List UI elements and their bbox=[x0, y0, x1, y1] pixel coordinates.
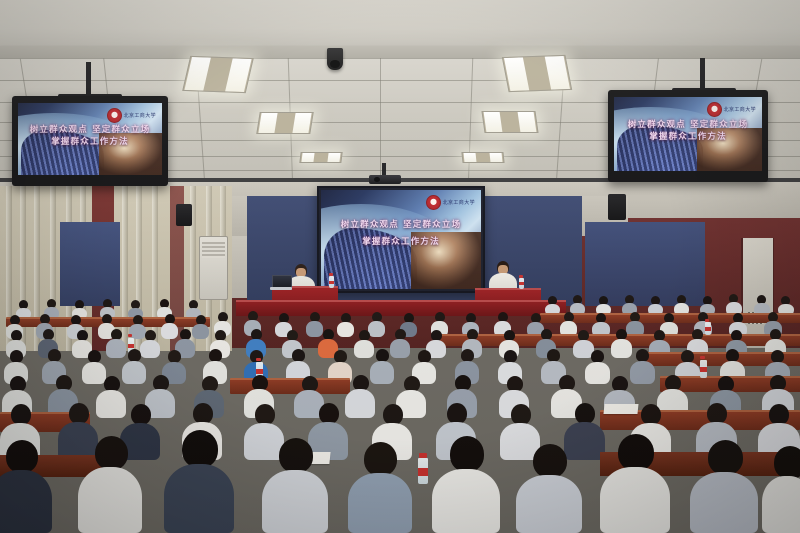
left-monitor-screen: 北京工商大学 树立群众观点 坚定群众立场 掌握群众工作方法 bbox=[18, 103, 162, 175]
university-name: 北京工商大学 bbox=[724, 106, 756, 113]
right-wall-monitor: 北京工商大学 树立群众观点 坚定群众立场 掌握群众工作方法 bbox=[608, 90, 768, 182]
university-seal-icon bbox=[707, 102, 722, 117]
lecture-hall-photo: 北京工商大学 树立群众观点 坚定群众立场 掌握群众工作方法 北京工商大学 树立群… bbox=[0, 0, 800, 533]
slide-university-logo: 北京工商大学 bbox=[426, 195, 475, 210]
air-conditioner-unit bbox=[199, 236, 228, 300]
university-name: 北京工商大学 bbox=[443, 199, 475, 206]
ceiling-upper-slab bbox=[0, 0, 800, 52]
main-projection-screen: 北京工商大学 树立群众观点 坚定群众立场 掌握群众工作方法 bbox=[317, 186, 485, 293]
ceiling-dome-camera bbox=[327, 48, 343, 70]
ceiling-light-panel bbox=[502, 55, 572, 92]
wall-speaker-right bbox=[608, 194, 626, 220]
water-bottle bbox=[519, 278, 524, 289]
stage-backdrop-right bbox=[585, 222, 705, 306]
slide-title-line2: 掌握群众工作方法 bbox=[321, 235, 481, 247]
right-tv-mount bbox=[700, 58, 705, 92]
left-wall-monitor: 北京工商大学 树立群众观点 坚定群众立场 掌握群众工作方法 bbox=[12, 96, 168, 186]
ceiling-light-panel bbox=[299, 152, 342, 163]
presentation-slide: 北京工商大学 树立群众观点 坚定群众立场 掌握群众工作方法 bbox=[321, 190, 481, 289]
water-bottle bbox=[700, 360, 707, 378]
left-tv-mount bbox=[86, 62, 91, 98]
water-bottle-cap bbox=[705, 319, 709, 322]
projector-lens-icon bbox=[374, 177, 380, 182]
water-bottle-cap bbox=[128, 334, 132, 337]
university-seal-icon bbox=[107, 108, 122, 123]
water-bottle-cap bbox=[519, 275, 523, 278]
water-bottle-cap bbox=[329, 273, 333, 276]
water-bottle-cap bbox=[700, 356, 705, 359]
slide-title-line1: 树立群众观点 坚定群众立场 bbox=[18, 123, 162, 135]
ceiling-light-panel bbox=[481, 111, 538, 133]
wall-speaker-left bbox=[176, 204, 192, 226]
university-seal-icon bbox=[426, 195, 441, 210]
water-bottle-cap bbox=[256, 358, 261, 361]
ceiling-light-panel bbox=[461, 152, 504, 163]
slide-title-line1: 树立群众观点 坚定群众立场 bbox=[321, 218, 481, 230]
ceiling-light-panel bbox=[182, 56, 254, 93]
water-bottle bbox=[418, 458, 428, 484]
slide-title-line2: 掌握群众工作方法 bbox=[18, 135, 162, 147]
ceiling-light-panel bbox=[256, 112, 313, 134]
water-bottle-cap bbox=[419, 453, 427, 458]
presenter-laptop-base bbox=[270, 287, 292, 290]
right-monitor-screen: 北京工商大学 树立群众观点 坚定群众立场 掌握群众工作方法 bbox=[614, 97, 762, 171]
slide-title-line1: 树立群众观点 坚定群众立场 bbox=[614, 118, 762, 130]
slide-title-line2: 掌握群众工作方法 bbox=[614, 130, 762, 142]
water-bottle bbox=[329, 276, 334, 288]
stage-backdrop-left bbox=[60, 222, 120, 306]
university-name: 北京工商大学 bbox=[124, 112, 156, 119]
